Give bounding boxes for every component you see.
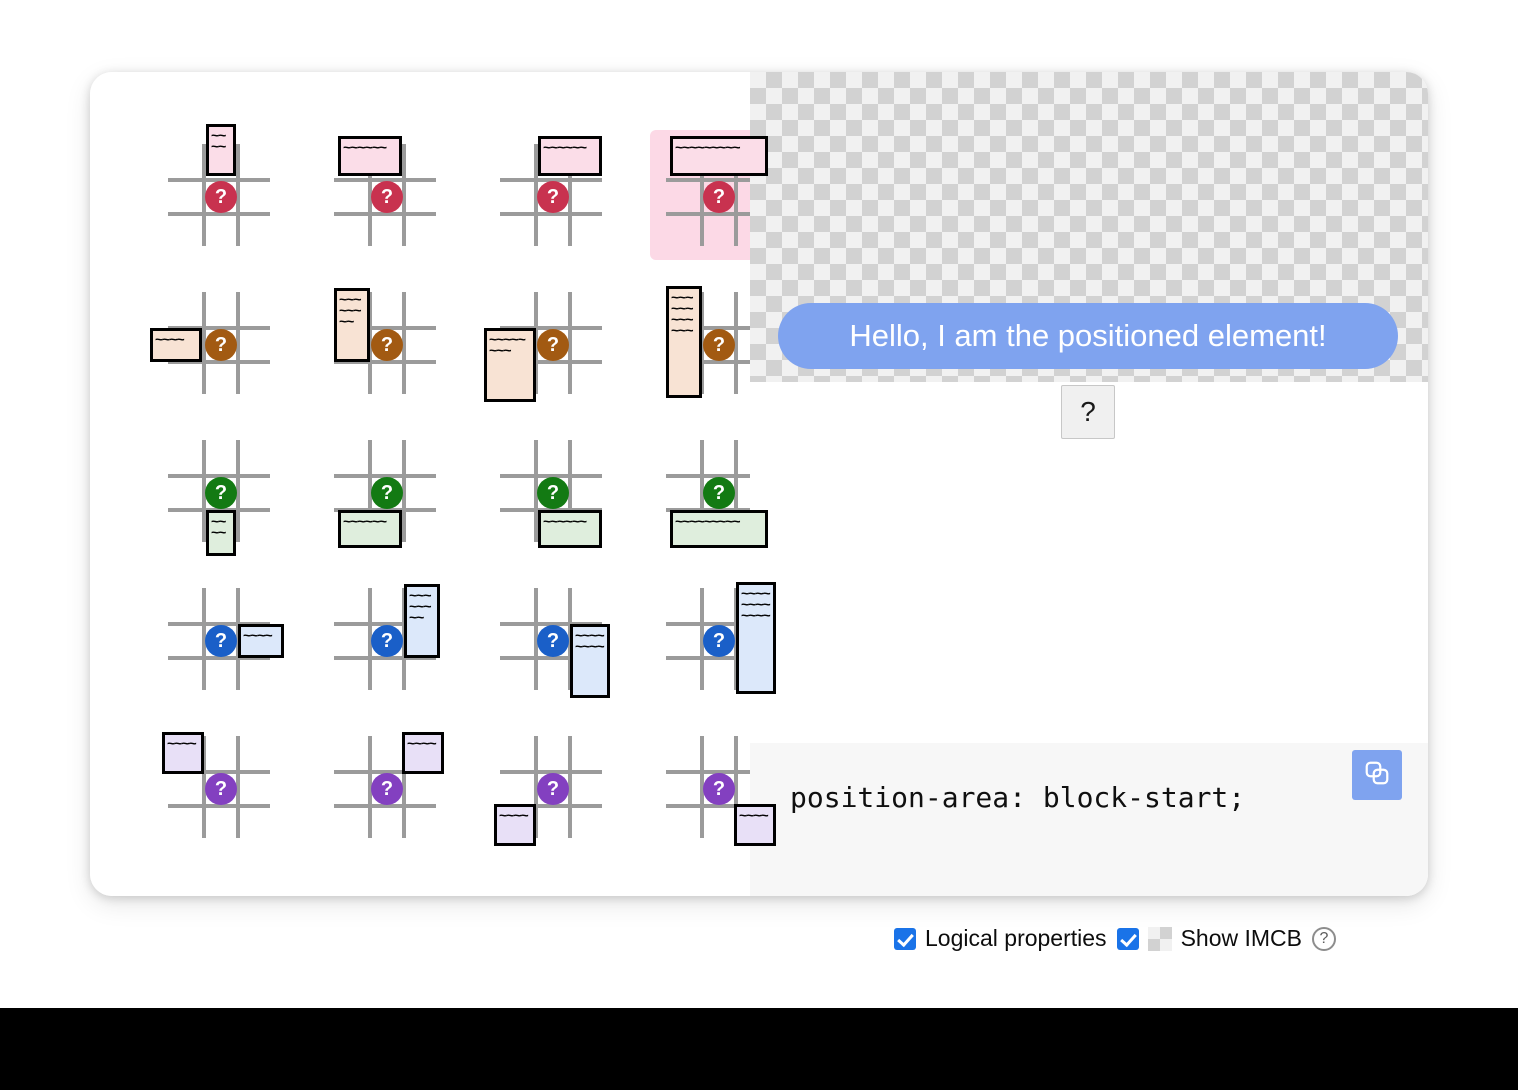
- logical-properties-label: Logical properties: [925, 925, 1107, 952]
- anchor-marker-icon: ?: [703, 477, 735, 509]
- positioned-box-preview: ~~~~~~~~~: [670, 136, 768, 176]
- anchor-marker-icon: ?: [537, 625, 569, 657]
- anchor-marker-icon: ?: [371, 773, 403, 805]
- positioned-box-preview: ~~~~~~~~: [334, 288, 370, 362]
- position-area-grid-lines: ~~~~~~~~?: [500, 292, 602, 394]
- position-area-option[interactable]: ~~~~?: [152, 426, 294, 556]
- position-area-option[interactable]: ~~~~~~~~?: [484, 574, 626, 704]
- position-area-grid-lines: ~~~~~~~~?: [500, 588, 602, 690]
- position-area-grid-lines: ~~~~~~~~?: [334, 588, 436, 690]
- app-root: ~~~~?~~~~~~?~~~~~~?~~~~~~~~~?~~~~?~~~~~~…: [0, 0, 1518, 1090]
- positioned-box-preview: ~~~~~~: [338, 510, 402, 548]
- anchor-marker-icon: ?: [205, 773, 237, 805]
- preview-pane: Hello, I am the positioned element! ? po…: [750, 72, 1428, 896]
- anchor-marker-icon: ?: [703, 181, 735, 213]
- position-area-option[interactable]: ~~~~~~~~~~~~?: [650, 574, 792, 704]
- anchor-marker-icon: ?: [371, 329, 403, 361]
- positioned-box-preview: ~~~~: [150, 328, 202, 362]
- position-area-option[interactable]: ~~~~~~~~?: [318, 574, 460, 704]
- position-area-grid-lines: ~~~~~~?: [334, 440, 436, 542]
- positioned-box-preview: ~~~~~~~~: [484, 328, 536, 402]
- anchor-marker-icon: ?: [371, 625, 403, 657]
- positioned-box-preview: ~~~~~~~~~~~~: [736, 582, 776, 694]
- position-area-option[interactable]: ~~~~~~?: [484, 130, 626, 260]
- position-area-grid-lines: ~~~~?: [168, 144, 270, 246]
- positioned-element-text: Hello, I am the positioned element!: [849, 318, 1326, 354]
- anchor-marker-icon: ?: [205, 625, 237, 657]
- show-imcb-checkbox[interactable]: [1117, 928, 1139, 950]
- show-imcb-control[interactable]: Show IMCB: [1117, 925, 1302, 952]
- position-area-option[interactable]: ~~~~~~?: [318, 426, 460, 556]
- anchor-marker-icon: ?: [205, 329, 237, 361]
- position-area-option[interactable]: ~~~~?: [152, 130, 294, 260]
- position-area-grid-lines: ~~~~~~?: [334, 144, 436, 246]
- position-area-grid-lines: ~~~~?: [334, 736, 436, 838]
- positioned-box-preview: ~~~~~~~~: [404, 584, 440, 658]
- position-area-option[interactable]: ~~~~?: [152, 574, 294, 704]
- anchor-marker-icon: ?: [371, 181, 403, 213]
- footer-controls: Logical properties Show IMCB ?: [0, 925, 1428, 952]
- anchor-marker-icon: ?: [537, 773, 569, 805]
- anchor-marker-icon: ?: [537, 329, 569, 361]
- anchor-marker-icon: ?: [537, 477, 569, 509]
- positioned-box-preview: ~~~~: [734, 804, 776, 846]
- logical-properties-control[interactable]: Logical properties: [894, 925, 1107, 952]
- position-area-grid-lines: ~~~~~~?: [500, 144, 602, 246]
- position-area-option[interactable]: ~~~~?: [152, 722, 294, 852]
- anchor-marker-icon: ?: [205, 181, 237, 213]
- position-area-grid-lines: ~~~~~~~~~~~~?: [666, 588, 768, 690]
- copy-button[interactable]: [1352, 750, 1402, 800]
- position-area-grid-lines: ~~~~?: [168, 588, 270, 690]
- positioned-box-preview: ~~~~~~~~~: [670, 510, 768, 548]
- position-area-option[interactable]: ~~~~?: [152, 278, 294, 408]
- code-panel: position-area: block-start;: [750, 743, 1428, 896]
- anchor-marker-icon: ?: [703, 625, 735, 657]
- positioned-box-preview: ~~~~~~~~~~~~: [666, 286, 702, 398]
- position-area-option[interactable]: ~~~~~~?: [318, 130, 460, 260]
- logical-properties-checkbox[interactable]: [894, 928, 916, 950]
- anchor-marker-icon: ?: [371, 477, 403, 509]
- position-area-grid-lines: ~~~~?: [168, 736, 270, 838]
- position-area-option[interactable]: ~~~~~~~~?: [484, 278, 626, 408]
- position-area-grid-lines: ~~~~?: [168, 292, 270, 394]
- position-area-option[interactable]: ~~~~~~?: [484, 426, 626, 556]
- positioned-box-preview: ~~~~~~: [538, 136, 602, 176]
- positioned-box-preview: ~~~~~~~~: [570, 624, 610, 698]
- position-area-card: ~~~~?~~~~~~?~~~~~~?~~~~~~~~~?~~~~?~~~~~~…: [90, 72, 1428, 896]
- position-area-grid-lines: ~~~~?: [500, 736, 602, 838]
- position-area-option[interactable]: ~~~~?: [484, 722, 626, 852]
- anchor-marker-icon: ?: [205, 477, 237, 509]
- positioned-box-preview: ~~~~~~: [338, 136, 402, 176]
- position-area-grid-lines: ~~~~?: [168, 440, 270, 542]
- help-icon-label: ?: [1320, 930, 1329, 947]
- show-imcb-label: Show IMCB: [1181, 925, 1302, 952]
- bottom-black-strip: [0, 1008, 1518, 1090]
- position-area-grid-lines: ~~~~~~~~?: [334, 292, 436, 394]
- position-area-option[interactable]: ~~~~?: [318, 722, 460, 852]
- positioned-element-tooltip: Hello, I am the positioned element!: [778, 303, 1398, 369]
- help-icon[interactable]: ?: [1312, 927, 1336, 951]
- css-declaration: position-area: block-start;: [790, 781, 1245, 814]
- anchor-button-label: ?: [1080, 396, 1096, 428]
- positioned-box-preview: ~~~~: [206, 124, 236, 176]
- position-area-options-grid[interactable]: ~~~~?~~~~~~?~~~~~~?~~~~~~~~~?~~~~?~~~~~~…: [152, 130, 792, 852]
- positioned-box-preview: ~~~~: [402, 732, 444, 774]
- anchor-marker-icon: ?: [703, 773, 735, 805]
- position-area-options-pane: ~~~~?~~~~~~?~~~~~~?~~~~~~~~~?~~~~?~~~~~~…: [90, 72, 750, 896]
- anchor-marker-icon: ?: [703, 329, 735, 361]
- positioned-box-preview: ~~~~: [162, 732, 204, 774]
- position-area-option[interactable]: ~~~~~~~~?: [318, 278, 460, 408]
- positioned-box-preview: ~~~~: [206, 510, 236, 556]
- copy-icon: [1363, 759, 1391, 792]
- imcb-checkerboard-swatch: [1148, 927, 1172, 951]
- anchor-button[interactable]: ?: [1061, 385, 1115, 439]
- anchor-marker-icon: ?: [537, 181, 569, 213]
- positioned-box-preview: ~~~~: [494, 804, 536, 846]
- positioned-box-preview: ~~~~~~: [538, 510, 602, 548]
- positioned-box-preview: ~~~~: [238, 624, 284, 658]
- position-area-grid-lines: ~~~~~~?: [500, 440, 602, 542]
